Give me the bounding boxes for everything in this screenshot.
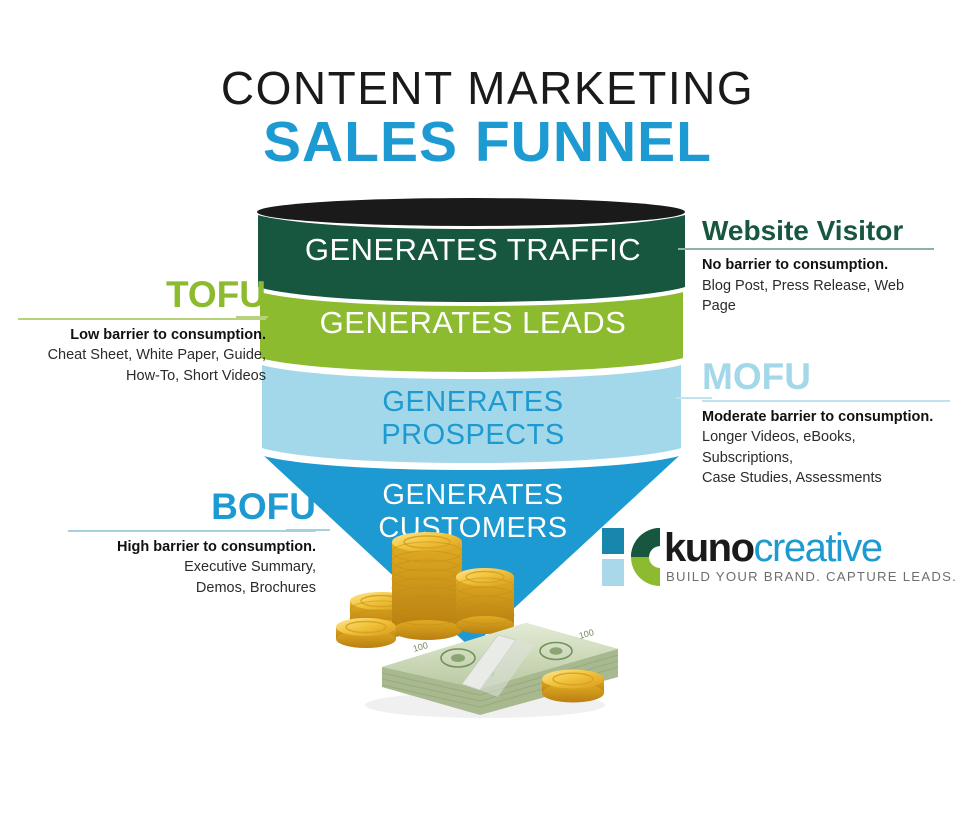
callout-website-visitor: Website Visitor No barrier to consumptio… (702, 216, 934, 317)
title-line-secondary: SALES FUNNEL (0, 112, 975, 172)
title-line-primary: CONTENT MARKETING (0, 62, 975, 114)
callout-heading-tofu: TOFU (18, 276, 266, 315)
callout-rule-website-visitor (702, 248, 934, 250)
svg-text:100: 100 (578, 627, 595, 641)
logo-arc-bottom-right (631, 557, 660, 586)
callout-rule-tofu (18, 318, 266, 320)
coin-stack-right (456, 568, 514, 634)
callout-bofu: BOFU High barrier to consumption. Execut… (68, 488, 316, 598)
logo-wordmark: kunocreative (664, 526, 882, 570)
svg-text:100: 100 (412, 640, 429, 654)
coin-stack-center (392, 532, 462, 640)
callout-heading-mofu: MOFU (702, 358, 950, 397)
callout-rule-mofu (702, 400, 950, 402)
coin-single-left (336, 618, 396, 648)
callout-barrier-tofu: Low barrier to consumption. (18, 326, 266, 346)
kuno-creative-logo[interactable]: kunocreative BUILD YOUR BRAND. CAPTURE L… (602, 528, 922, 590)
infographic-canvas: CONTENT MARKETING SALES FUNNEL GENERATES… (0, 0, 975, 813)
callout-mofu: MOFU Moderate barrier to consumption. Lo… (702, 358, 950, 488)
funnel-label-prospects: GENERATES PROSPECTS (263, 386, 683, 452)
callout-examples-mofu: Longer Videos, eBooks, Subscriptions, Ca… (702, 427, 950, 488)
callout-barrier-mofu: Moderate barrier to consumption. (702, 408, 950, 428)
funnel-rim (257, 198, 685, 226)
callout-barrier-website-visitor: No barrier to consumption. (702, 256, 934, 276)
callout-examples-tofu: Cheat Sheet, White Paper, Guide, How-To,… (18, 345, 266, 386)
callout-examples-bofu: Executive Summary, Demos, Brochures (68, 557, 316, 598)
kuno-logo-mark (602, 528, 662, 586)
logo-word-creative: creative (754, 526, 882, 570)
callout-tofu: TOFU Low barrier to consumption. Cheat S… (18, 276, 266, 386)
logo-square-bottom-left (602, 559, 624, 586)
logo-arc-top-right-fill (631, 528, 660, 557)
callout-heading-website-visitor: Website Visitor (702, 216, 934, 245)
logo-word-kuno: kuno (664, 526, 754, 570)
coin-single-right (542, 670, 604, 703)
callout-examples-website-visitor: Blog Post, Press Release, Web Page (702, 276, 934, 317)
funnel-label-leads: GENERATES LEADS (263, 305, 683, 341)
page-title: CONTENT MARKETING SALES FUNNEL (0, 62, 975, 172)
funnel-label-traffic: GENERATES TRAFFIC (263, 232, 683, 268)
money-illustration: 100 100 100 (330, 527, 630, 722)
logo-tagline: BUILD YOUR BRAND. CAPTURE LEADS. (666, 569, 957, 584)
logo-square-top-left (602, 528, 624, 554)
callout-heading-bofu: BOFU (68, 488, 316, 527)
callout-rule-bofu (68, 530, 316, 532)
callout-barrier-bofu: High barrier to consumption. (68, 538, 316, 558)
